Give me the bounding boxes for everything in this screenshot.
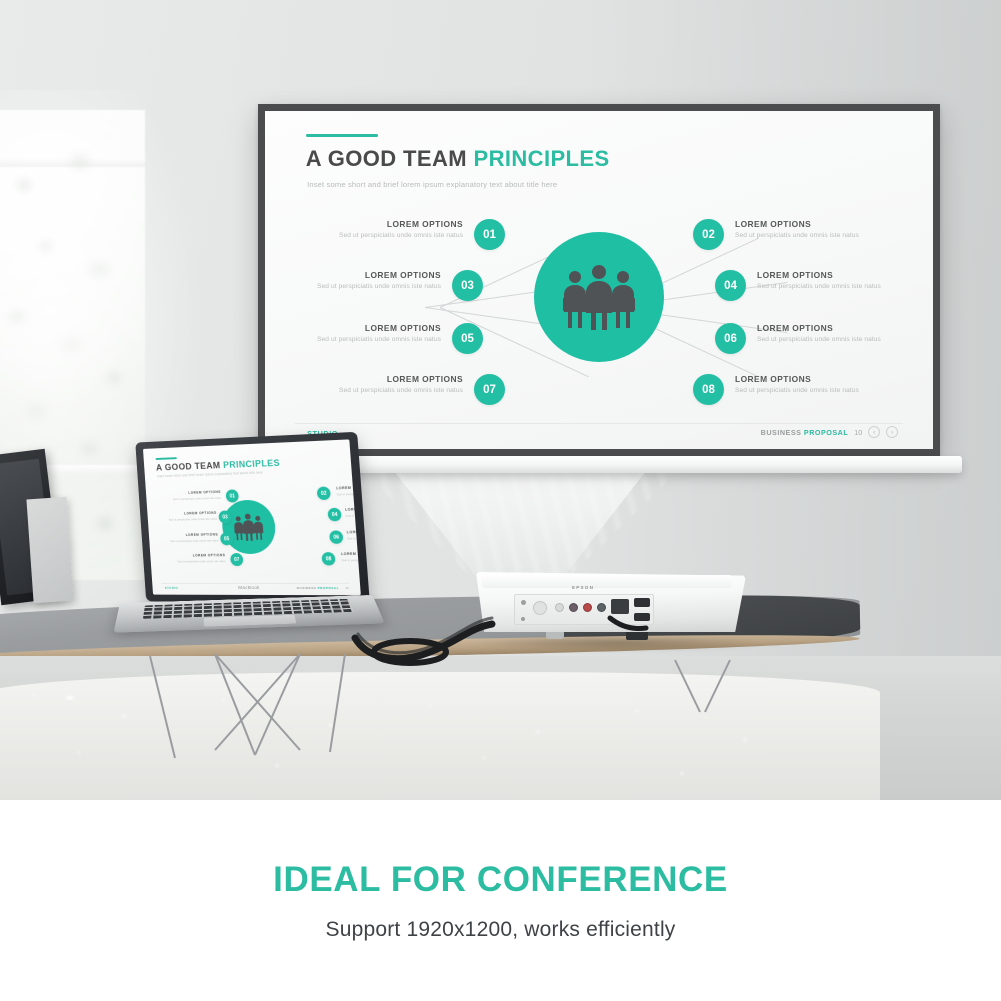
laptop-option-01: LOREM OPTIONS Sed ut perspiciatis unde o… xyxy=(153,490,221,502)
laptop-node-06: 06 xyxy=(329,530,343,544)
option-06-heading: LOREM OPTIONS xyxy=(757,323,933,333)
laptop-node-02: 02 xyxy=(317,486,331,500)
laptop-title-accent: PRINCIPLES xyxy=(223,458,280,470)
slide-title-accent: PRINCIPLES xyxy=(474,146,610,171)
option-07-heading: LOREM OPTIONS xyxy=(285,374,463,384)
projector-foot-right xyxy=(626,632,648,640)
option-01-desc: Sed ut perspiciatis unde omnis iste natu… xyxy=(285,232,463,239)
node-04[interactable]: 04 xyxy=(715,270,746,301)
laptop-option-07-desc: Sed ut perspiciatis unde omnis iste natu… xyxy=(158,560,226,563)
option-04-heading: LOREM OPTIONS xyxy=(757,270,933,280)
option-03-heading: LOREM OPTIONS xyxy=(265,270,441,280)
option-03-desc: Sed ut perspiciatis unde omnis iste natu… xyxy=(265,283,441,290)
slide-title: A GOOD TEAM PRINCIPLES xyxy=(306,146,610,172)
laptop-option-05-heading: LOREM OPTIONS xyxy=(151,533,219,538)
port-vga-connector xyxy=(611,599,629,614)
projector-port-panel xyxy=(514,594,654,625)
prev-slide-button[interactable]: ‹ xyxy=(868,426,880,438)
laptop-option-08: LOREM OPTIONS Sed ut perspiciatis unde o… xyxy=(341,551,361,562)
laptop-center-hub xyxy=(221,499,278,554)
laptop-footer-business-proposal: BUSINESS PROPOSAL xyxy=(297,586,340,590)
slide-title-dark: A GOOD TEAM xyxy=(306,146,474,171)
option-07-desc: Sed ut perspiciatis unde omnis iste natu… xyxy=(285,387,463,394)
port-screw-bottom xyxy=(521,617,525,621)
projector-foot-left xyxy=(546,632,564,639)
port-audio-red xyxy=(583,603,592,612)
port-screw-left xyxy=(521,600,526,605)
laptop-option-07-heading: LOREM OPTIONS xyxy=(158,553,226,558)
option-01-heading: LOREM OPTIONS xyxy=(285,219,463,229)
laptop-option-02: LOREM OPTIONS Sed ut perspiciatis unde o… xyxy=(336,484,361,497)
node-07[interactable]: 07 xyxy=(474,374,505,405)
slide-footer-business-proposal: BUSINESS PROPOSAL xyxy=(761,428,849,437)
option-05[interactable]: LOREM OPTIONS Sed ut perspiciatis unde o… xyxy=(265,323,441,343)
option-02-heading: LOREM OPTIONS xyxy=(735,219,915,229)
laptop-node-07: 07 xyxy=(230,553,244,566)
footer-proposal: PROPOSAL xyxy=(804,428,848,437)
laptop-option-01-heading: LOREM OPTIONS xyxy=(153,490,221,496)
laptop-node-04: 04 xyxy=(327,508,341,522)
laptop-page-number: 10 xyxy=(345,586,349,590)
laptop-screen: A GOOD TEAM PRINCIPLES Inset some short … xyxy=(143,439,361,595)
node-02[interactable]: 02 xyxy=(693,219,724,250)
option-08[interactable]: LOREM OPTIONS Sed ut perspiciatis unde o… xyxy=(735,374,915,394)
laptop-option-04: LOREM OPTIONS Sed ut perspiciatis unde o… xyxy=(345,506,361,518)
promo-band: IDEAL FOR CONFERENCE Support 1920x1200, … xyxy=(0,800,1001,1001)
slide-footer-divider xyxy=(295,423,903,424)
laptop-option-06-heading: LOREM OPTIONS xyxy=(347,529,361,534)
laptop-node-03: 03 xyxy=(218,510,231,523)
laptop-option-03: LOREM OPTIONS Sed ut perspiciatis unde o… xyxy=(149,511,217,522)
laptop-option-08-heading: LOREM OPTIONS xyxy=(341,551,361,556)
laptop-trackpad[interactable] xyxy=(204,615,296,627)
product-photo-scene: A GOOD TEAM PRINCIPLES Inset some short … xyxy=(0,0,1001,800)
table-wire-legs xyxy=(0,640,1001,800)
laptop-footer-business: BUSINESS xyxy=(297,586,318,590)
laptop: A GOOD TEAM PRINCIPLES Inset some short … xyxy=(118,437,380,652)
laptop-option-05: LOREM OPTIONS Sed ut perspiciatis unde o… xyxy=(151,533,219,544)
laptop-option-03-desc: Sed ut perspiciatis unde omnis iste natu… xyxy=(150,518,217,522)
option-01[interactable]: LOREM OPTIONS Sed ut perspiciatis unde o… xyxy=(285,219,463,239)
node-08[interactable]: 08 xyxy=(693,374,724,405)
option-05-desc: Sed ut perspiciatis unde omnis iste natu… xyxy=(265,336,441,343)
laptop-slide-footer-divider xyxy=(161,583,350,584)
option-06-desc: Sed ut perspiciatis unde omnis iste natu… xyxy=(757,336,933,343)
laptop-option-01-desc: Sed ut perspiciatis unde omnis iste natu… xyxy=(154,497,222,502)
footer-business: BUSINESS xyxy=(761,428,804,437)
node-03[interactable]: 03 xyxy=(452,270,483,301)
laptop-footer-proposal: PROPOSAL xyxy=(318,586,340,590)
laptop-lid: A GOOD TEAM PRINCIPLES Inset some short … xyxy=(135,432,370,603)
laptop-option-04-desc: Sed ut perspiciatis unde omnis iste natu… xyxy=(345,513,360,518)
option-06[interactable]: LOREM OPTIONS Sed ut perspiciatis unde o… xyxy=(757,323,933,343)
laptop-title-dark: A GOOD TEAM xyxy=(156,460,224,472)
laptop-presentation-slide: A GOOD TEAM PRINCIPLES Inset some short … xyxy=(143,439,361,595)
option-02[interactable]: LOREM OPTIONS Sed ut perspiciatis unde o… xyxy=(735,219,915,239)
option-04-desc: Sed ut perspiciatis unde omnis iste natu… xyxy=(757,283,933,290)
laptop-option-08-desc: Sed ut perspiciatis unde omnis iste natu… xyxy=(341,559,360,563)
option-08-heading: LOREM OPTIONS xyxy=(735,374,915,384)
node-06[interactable]: 06 xyxy=(715,323,746,354)
laptop-node-08: 08 xyxy=(321,552,335,565)
option-04[interactable]: LOREM OPTIONS Sed ut perspiciatis unde o… xyxy=(757,270,933,290)
laptop-option-05-desc: Sed ut perspiciatis unde omnis iste natu… xyxy=(151,539,219,543)
center-hub xyxy=(534,232,664,362)
option-03[interactable]: LOREM OPTIONS Sed ut perspiciatis unde o… xyxy=(265,270,441,290)
laptop-option-04-heading: LOREM OPTIONS xyxy=(345,506,361,512)
port-hdmi xyxy=(634,613,650,621)
promo-subtitle: Support 1920x1200, works efficiently xyxy=(325,918,675,942)
slide-footer-right: BUSINESS PROPOSAL 10 ‹ › xyxy=(761,426,899,438)
three-people-icon xyxy=(556,264,642,330)
laptop-option-06: LOREM OPTIONS Sed ut perspiciatis unde o… xyxy=(347,529,361,541)
laptop-option-02-desc: Sed ut perspiciatis unde omnis iste natu… xyxy=(337,491,361,496)
screen-roller-bar xyxy=(282,456,962,473)
option-02-desc: Sed ut perspiciatis unde omnis iste natu… xyxy=(735,232,915,239)
option-05-heading: LOREM OPTIONS xyxy=(265,323,441,333)
presentation-slide: A GOOD TEAM PRINCIPLES Inset some short … xyxy=(265,111,933,449)
port-vga-round xyxy=(533,601,547,615)
secondary-picture-frame xyxy=(26,497,73,604)
slide-accent-bar xyxy=(306,134,378,137)
laptop-node-05: 05 xyxy=(220,532,233,545)
laptop-slide-accent-bar xyxy=(155,457,176,459)
promo-title: IDEAL FOR CONFERENCE xyxy=(273,860,728,900)
laptop-option-06-desc: Sed ut perspiciatis unde omnis iste natu… xyxy=(347,536,361,540)
laptop-option-07: LOREM OPTIONS Sed ut perspiciatis unde o… xyxy=(158,553,226,563)
laptop-node-01: 01 xyxy=(226,489,239,502)
port-serial xyxy=(634,598,650,607)
laptop-option-03-heading: LOREM OPTIONS xyxy=(149,511,217,517)
laptop-footer-studio: STUDIO xyxy=(165,586,179,590)
slide-page-number: 10 xyxy=(854,428,862,437)
option-07[interactable]: LOREM OPTIONS Sed ut perspiciatis unde o… xyxy=(285,374,463,394)
projector-top-panel xyxy=(482,575,732,588)
laptop-option-02-heading: LOREM OPTIONS xyxy=(336,484,361,491)
slide-subtitle: Inset some short and brief lorem ipsum e… xyxy=(307,180,557,189)
node-01[interactable]: 01 xyxy=(474,219,505,250)
projection-screen: A GOOD TEAM PRINCIPLES Inset some short … xyxy=(258,104,940,456)
port-audio-black xyxy=(597,603,606,612)
projector: EPSON xyxy=(476,572,746,644)
port-audio-purple xyxy=(569,603,578,612)
port-audio-white xyxy=(555,603,564,612)
laptop-three-people-icon xyxy=(230,513,267,542)
laptop-footer-right: BUSINESS PROPOSAL 10 xyxy=(297,586,349,590)
projector-brand-label: EPSON xyxy=(572,585,594,590)
next-slide-button[interactable]: › xyxy=(886,426,898,438)
option-08-desc: Sed ut perspiciatis unde omnis iste natu… xyxy=(735,387,915,394)
node-05[interactable]: 05 xyxy=(452,323,483,354)
laptop-brand-label: MacBook xyxy=(238,585,260,590)
